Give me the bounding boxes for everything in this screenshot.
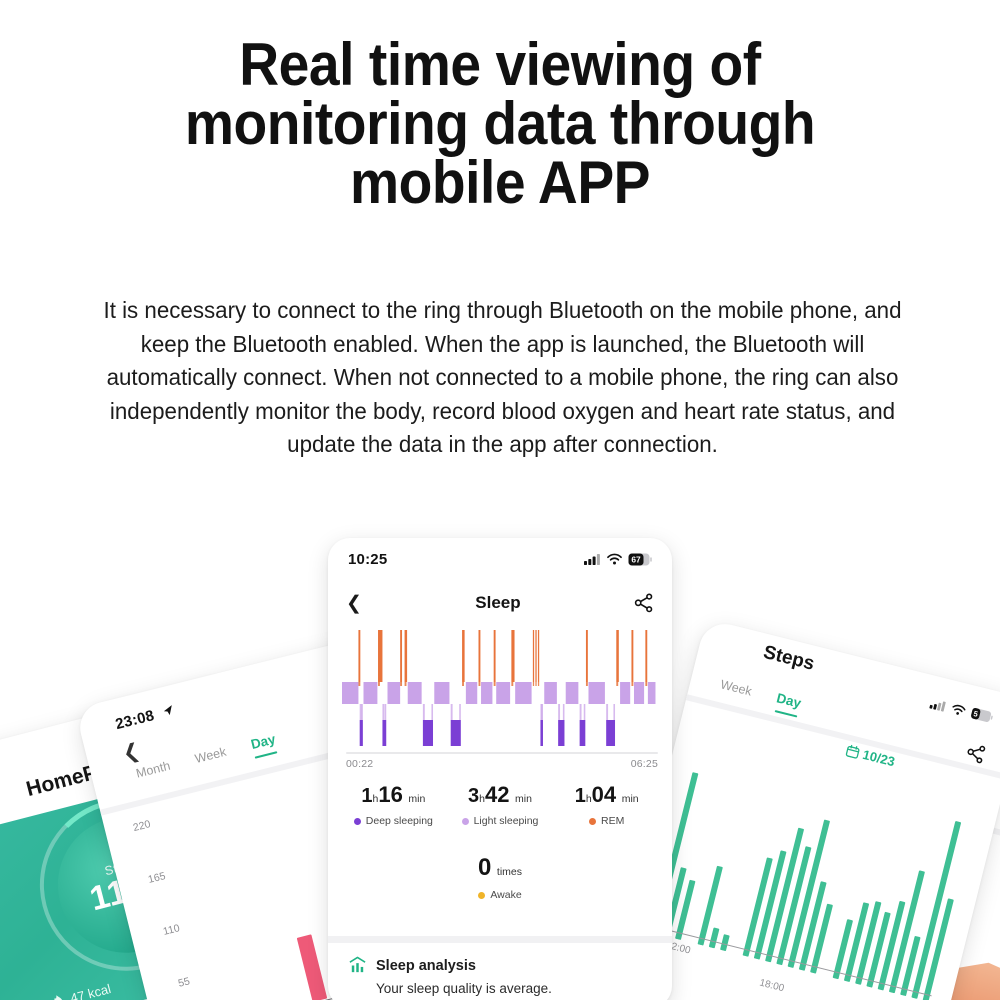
stat-value: 0 times [340, 856, 660, 880]
battery-level: 67 [631, 554, 641, 564]
stat-legend: REM [553, 815, 660, 827]
wifi-icon [951, 702, 967, 716]
page-title-line-3: mobile APP [123, 154, 877, 213]
tab-week[interactable]: Week [719, 677, 753, 698]
sleep-awake-row: 0 times Awake [340, 856, 660, 901]
status-icons: 67 [584, 553, 652, 566]
sleep-stats-row: 1h16 min Deep sleeping 3h42 min Light sl… [340, 784, 660, 827]
sleep-analysis-header: Sleep analysis [348, 956, 658, 975]
tab-day[interactable]: Day [775, 690, 803, 711]
sleep-start-time: 00:22 [346, 758, 373, 770]
timeline-track [346, 752, 658, 754]
stat-legend: Awake [340, 889, 660, 901]
page-description: It is necessary to connect to the ring t… [92, 294, 914, 462]
steps-chart: 12:00 18:00 24:00 [629, 736, 988, 1000]
share-icon[interactable] [965, 742, 988, 765]
stat-legend: Light sleeping [447, 815, 554, 827]
status-time: 10:25 [348, 551, 387, 568]
tab-day[interactable]: Day [249, 731, 277, 752]
chart-analysis-icon [348, 956, 367, 975]
legend-dot-rem [589, 818, 596, 825]
stat-value: 3h42 min [447, 784, 554, 806]
page-title-line-1: Real time viewing of [123, 36, 877, 95]
battery-icon: 5 [970, 707, 994, 724]
timeline-labels: 00:22 06:25 [346, 758, 658, 770]
legend-dot-light [462, 818, 469, 825]
page-title-line-2: monitoring data through [123, 95, 877, 154]
hypnogram-svg [342, 624, 658, 750]
stat-value: 1h04 min [553, 784, 660, 806]
legend-dot-awake [478, 892, 485, 899]
y-tick: 110 [162, 922, 181, 938]
back-button[interactable]: ❮ [346, 594, 362, 613]
stat-deep-sleep: 1h16 min Deep sleeping [340, 784, 447, 827]
y-tick: 165 [147, 870, 167, 886]
y-tick: 220 [132, 818, 152, 834]
stat-rem: 1h04 min REM [553, 784, 660, 827]
nav-bar-sleep: ❮ Sleep [328, 586, 672, 620]
cellular-icon [584, 553, 601, 565]
x-tick: 18:00 [758, 978, 785, 995]
sleep-analysis-title: Sleep analysis [376, 958, 476, 974]
status-bar: 10:25 67 [328, 544, 672, 574]
wifi-icon [607, 553, 622, 565]
sleep-analysis-card[interactable]: Sleep analysis Your sleep quality is ave… [348, 956, 658, 996]
steps-bars-svg [639, 736, 988, 1000]
phone-screen-sleep[interactable]: 10:25 67 [328, 538, 672, 1000]
hr-bar [297, 934, 328, 1000]
stat-light-sleep: 3h42 min Light sleeping [447, 784, 554, 827]
cellular-icon [929, 697, 947, 712]
status-time: 23:08 [114, 702, 176, 733]
sleep-end-time: 06:25 [631, 758, 658, 770]
sleep-hypnogram-chart [342, 624, 658, 750]
calories-value: 47 kcal [69, 981, 113, 1000]
stat-value: 1h16 min [340, 784, 447, 806]
calories-burned: 47 kcal [49, 981, 112, 1000]
page-title: Real time viewing of monitoring data thr… [123, 36, 877, 212]
share-icon[interactable] [634, 593, 654, 613]
tab-week[interactable]: Week [194, 745, 228, 766]
battery-icon: 67 [628, 553, 652, 566]
page-root: Real time viewing of monitoring data thr… [0, 0, 1000, 1000]
page-title-sleep: Sleep [475, 593, 520, 613]
legend-dot-deep [354, 818, 361, 825]
status-icons: 5 [929, 697, 994, 724]
tab-month[interactable]: Month [135, 759, 172, 781]
divider [328, 936, 672, 943]
calendar-icon [845, 744, 861, 760]
stat-awake: 0 times Awake [340, 856, 660, 901]
sleep-analysis-subtitle: Your sleep quality is average. [376, 981, 658, 996]
y-tick: 55 [177, 975, 191, 989]
location-arrow-icon [161, 704, 174, 717]
back-button[interactable]: ❮ [121, 741, 142, 764]
stat-legend: Deep sleeping [340, 815, 447, 827]
flame-icon [49, 993, 66, 1000]
